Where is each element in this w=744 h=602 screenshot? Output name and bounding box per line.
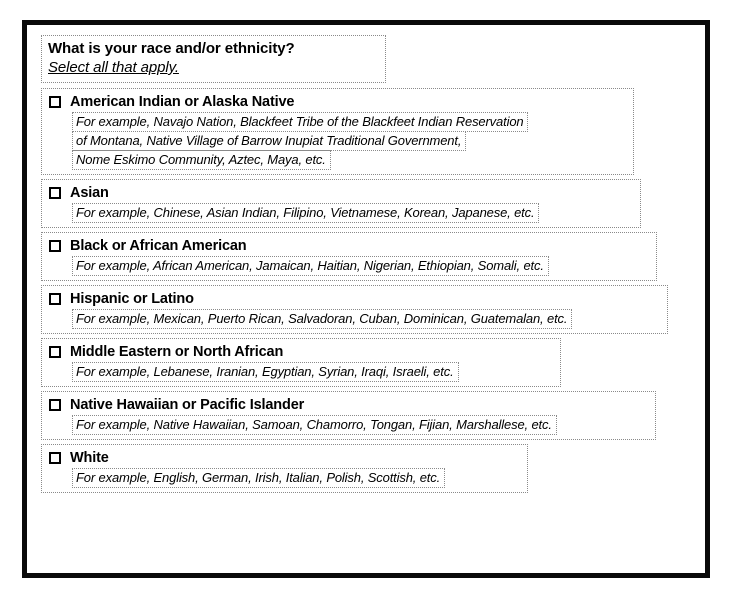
- option-examples: For example, Lebanese, Iranian, Egyptian…: [72, 362, 553, 382]
- option-header[interactable]: Hispanic or Latino: [48, 290, 660, 308]
- example-line: For example, Native Hawaiian, Samoan, Ch…: [72, 415, 557, 435]
- checkbox-icon[interactable]: [49, 240, 61, 252]
- example-line: For example, African American, Jamaican,…: [72, 256, 549, 276]
- option-native-hawaiian-or-pacific-islander[interactable]: Native Hawaiian or Pacific Islander For …: [41, 391, 656, 440]
- option-header[interactable]: Black or African American: [48, 237, 649, 255]
- option-header[interactable]: Asian: [48, 184, 633, 202]
- option-label: Native Hawaiian or Pacific Islander: [70, 396, 304, 414]
- option-examples: For example, Mexican, Puerto Rican, Salv…: [72, 309, 660, 329]
- option-header[interactable]: Middle Eastern or North African: [48, 343, 553, 361]
- question-block: What is your race and/or ethnicity? Sele…: [41, 35, 386, 83]
- option-label: Asian: [70, 184, 109, 202]
- option-examples: For example, Navajo Nation, Blackfeet Tr…: [72, 112, 626, 170]
- option-label: Middle Eastern or North African: [70, 343, 283, 361]
- option-label: Black or African American: [70, 237, 247, 255]
- checkbox-icon[interactable]: [49, 346, 61, 358]
- option-asian[interactable]: Asian For example, Chinese, Asian Indian…: [41, 179, 641, 228]
- option-examples: For example, African American, Jamaican,…: [72, 256, 649, 276]
- page-title: What is your race and/or ethnicity?: [48, 39, 377, 58]
- option-header[interactable]: White: [48, 449, 520, 467]
- option-american-indian-or-alaska-native[interactable]: American Indian or Alaska Native For exa…: [41, 88, 634, 175]
- option-header[interactable]: Native Hawaiian or Pacific Islander: [48, 396, 648, 414]
- form-content: What is your race and/or ethnicity? Sele…: [27, 25, 705, 573]
- example-line: Nome Eskimo Community, Aztec, Maya, etc.: [72, 150, 331, 170]
- option-label: White: [70, 449, 109, 467]
- example-line: For example, Mexican, Puerto Rican, Salv…: [72, 309, 572, 329]
- checkbox-icon[interactable]: [49, 187, 61, 199]
- example-line: of Montana, Native Village of Barrow Inu…: [72, 131, 466, 151]
- option-examples: For example, Chinese, Asian Indian, Fili…: [72, 203, 633, 223]
- option-black-or-african-american[interactable]: Black or African American For example, A…: [41, 232, 657, 281]
- example-line: For example, Navajo Nation, Blackfeet Tr…: [72, 112, 528, 132]
- question-instruction: Select all that apply.: [48, 58, 179, 78]
- example-line: For example, Chinese, Asian Indian, Fili…: [72, 203, 539, 223]
- checkbox-icon[interactable]: [49, 399, 61, 411]
- option-label: Hispanic or Latino: [70, 290, 194, 308]
- checkbox-icon[interactable]: [49, 293, 61, 305]
- race-ethnicity-form-frame: What is your race and/or ethnicity? Sele…: [22, 20, 710, 578]
- option-header[interactable]: American Indian or Alaska Native: [48, 93, 626, 111]
- checkbox-icon[interactable]: [49, 452, 61, 464]
- option-white[interactable]: White For example, English, German, Iris…: [41, 444, 528, 493]
- example-line: For example, English, German, Irish, Ita…: [72, 468, 445, 488]
- checkbox-icon[interactable]: [49, 96, 61, 108]
- example-line: For example, Lebanese, Iranian, Egyptian…: [72, 362, 459, 382]
- option-examples: For example, Native Hawaiian, Samoan, Ch…: [72, 415, 648, 435]
- option-middle-eastern-or-north-african[interactable]: Middle Eastern or North African For exam…: [41, 338, 561, 387]
- option-label: American Indian or Alaska Native: [70, 93, 294, 111]
- option-hispanic-or-latino[interactable]: Hispanic or Latino For example, Mexican,…: [41, 285, 668, 334]
- option-examples: For example, English, German, Irish, Ita…: [72, 468, 520, 488]
